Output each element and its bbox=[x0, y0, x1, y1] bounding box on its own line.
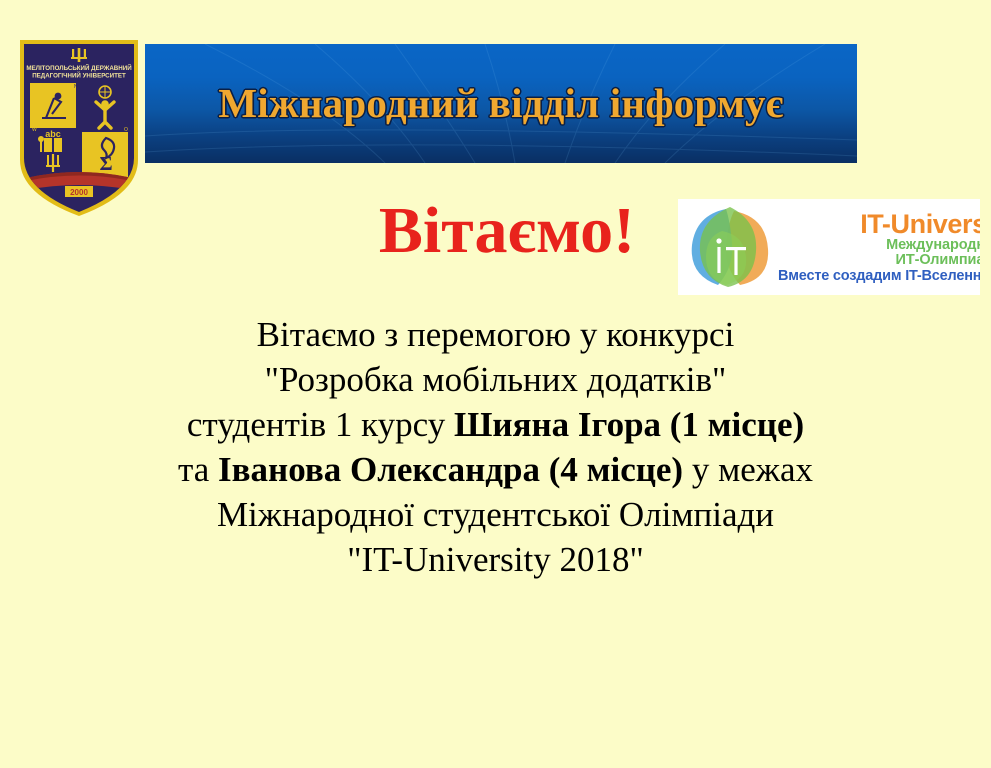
university-crest-logo: МЕЛІТОПОЛЬСЬКИЙ ДЕРЖАВНИЙ ПЕДАГОГІЧНИЙ У… bbox=[18, 40, 140, 216]
body-line-4-post: у межах bbox=[683, 450, 813, 489]
svg-text:Σ: Σ bbox=[99, 153, 112, 175]
body-line-4: та Іванова Олександра (4 місце) у межах bbox=[45, 447, 946, 492]
logo-subtitle-2: ИТ-Олимпиада bbox=[778, 253, 980, 268]
winner-name-second: Іванова Олександра (4 місце) bbox=[218, 450, 683, 489]
body-line-3-text: студентів 1 курсу bbox=[187, 405, 454, 444]
logo-tagline: Вместе создадим IT-Вселенную bbox=[778, 269, 980, 284]
body-line-6: "IT-University 2018" bbox=[45, 537, 946, 582]
banner-title: Міжнародний відділ інформує bbox=[145, 79, 857, 127]
header-banner: Міжнародний відділ інформує bbox=[145, 44, 857, 163]
winner-name-first: Шияна Ігора (1 місце) bbox=[454, 405, 804, 444]
svg-text:abc: abc bbox=[45, 129, 61, 139]
body-line-3: студентів 1 курсу Шияна Ігора (1 місце) bbox=[45, 402, 946, 447]
announcement-body: Вітаємо з перемогою у конкурсі "Розробка… bbox=[45, 312, 946, 582]
page-title-congratulations: Вітаємо! bbox=[352, 198, 662, 264]
body-line-5: Міжнародної студентської Олімпіади bbox=[45, 492, 946, 537]
svg-text:O: O bbox=[124, 127, 128, 133]
body-line-1: Вітаємо з перемогою у конкурсі bbox=[45, 312, 946, 357]
svg-text:2000: 2000 bbox=[70, 188, 88, 197]
svg-text:МЕЛІТОПОЛЬСЬКИЙ ДЕРЖАВНИЙ: МЕЛІТОПОЛЬСЬКИЙ ДЕРЖАВНИЙ bbox=[26, 64, 132, 72]
body-line-4-pre: та bbox=[178, 450, 218, 489]
logo-subtitle-1: Международная bbox=[778, 238, 980, 253]
svg-text:ПЕДАГОГІЧНИЙ УНІВЕРСИТЕТ: ПЕДАГОГІЧНИЙ УНІВЕРСИТЕТ bbox=[32, 72, 126, 80]
logo-brand-text: IT-Universe bbox=[778, 211, 980, 239]
svg-text:W: W bbox=[32, 127, 37, 133]
presentation-slide: МЕЛІТОПОЛЬСЬКИЙ ДЕРЖАВНИЙ ПЕДАГОГІЧНИЙ У… bbox=[0, 0, 991, 768]
it-universe-mark-icon bbox=[682, 201, 778, 293]
it-universe-logo: IT-Universe Международная ИТ-Олимпиада В… bbox=[678, 199, 980, 295]
body-line-2: "Розробка мобільних додатків" bbox=[45, 357, 946, 402]
svg-text:N: N bbox=[74, 84, 78, 90]
